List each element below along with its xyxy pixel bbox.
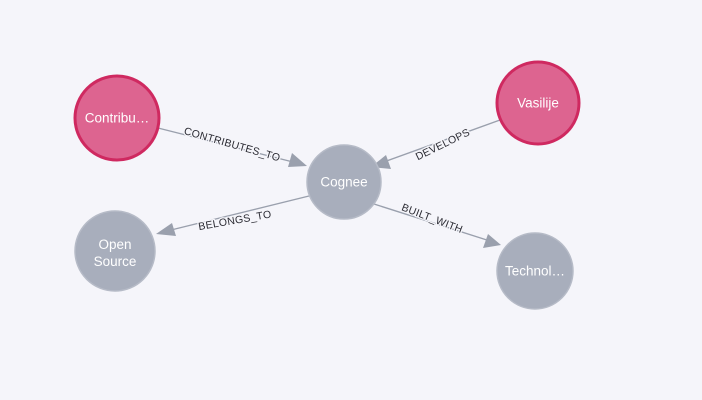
node-label-contributor: Contribu…: [85, 111, 150, 126]
node-contributor[interactable]: Contribu…: [75, 76, 159, 160]
graph-canvas[interactable]: CONTRIBUTES_TO DEVELOPS BELONGS_TO BUILT…: [0, 0, 702, 400]
graph-svg: CONTRIBUTES_TO DEVELOPS BELONGS_TO BUILT…: [0, 0, 702, 400]
node-technology[interactable]: Technol…: [497, 233, 573, 309]
node-label-cognee: Cognee: [320, 175, 367, 190]
nodes-layer: Contribu… Vasilije Cognee Open Source: [75, 62, 579, 309]
edge-label-belongs-to: BELONGS_TO: [197, 208, 272, 233]
node-label-open-source-line2: Source: [94, 254, 137, 269]
edge-arrowhead-contributes-to: [288, 153, 307, 167]
edge-arrowhead-built-with: [483, 234, 501, 248]
node-vasilije[interactable]: Vasilije: [497, 62, 579, 144]
node-cognee[interactable]: Cognee: [307, 145, 381, 219]
node-label-vasilije: Vasilije: [517, 96, 559, 111]
edge-arrowhead-belongs-to: [156, 223, 176, 236]
edge-label-built-with: BUILT_WITH: [400, 202, 465, 236]
node-open-source[interactable]: Open Source: [75, 211, 155, 291]
node-label-open-source-line1: Open: [98, 237, 131, 252]
node-label-technology: Technol…: [505, 264, 565, 279]
edge-label-develops: DEVELOPS: [414, 126, 472, 163]
edge-label-contributes-to: CONTRIBUTES_TO: [182, 125, 281, 164]
